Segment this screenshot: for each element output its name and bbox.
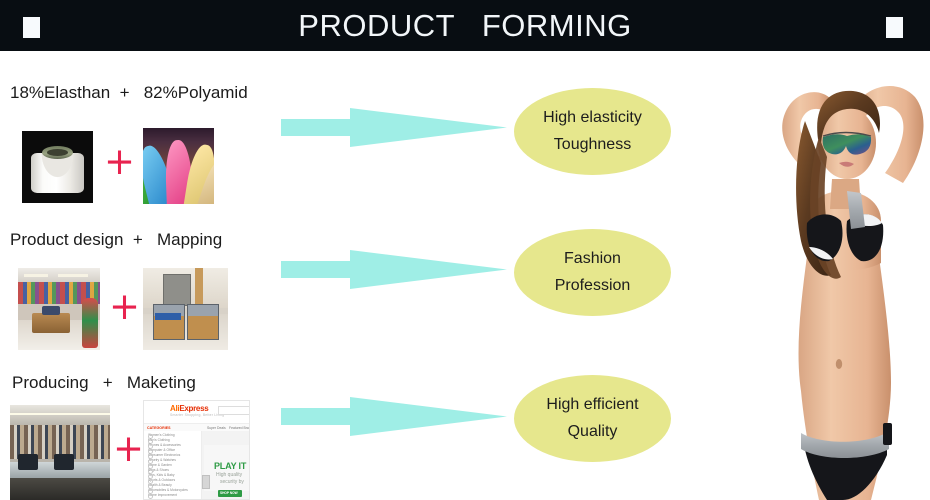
row-2-label: Product design + Mapping [10, 230, 222, 250]
row-1-plus-sign: + [104, 143, 135, 180]
aliexpress-hero-banner[interactable]: PLAY IT High quality security by SHOP NO… [204, 445, 249, 491]
factory-foreground-shadow [10, 478, 110, 500]
aliexpress-carousel-prev-arrow-icon[interactable] [202, 475, 210, 489]
row-3-arrow-icon [281, 395, 507, 439]
photo-knitting-workshop [143, 268, 228, 350]
aliexpress-logo: AliExpress [170, 404, 208, 413]
row-3-label: Producing + Maketing [12, 373, 196, 393]
workshop-machine-blue-panel [155, 313, 181, 320]
aliexpress-search-input[interactable] [218, 406, 250, 415]
photo-garment-showroom [18, 268, 100, 350]
aliexpress-main-content: PLAY IT High quality security by SHOP NO… [202, 431, 249, 499]
workshop-machine-1 [153, 304, 185, 340]
workshop-machine-2 [187, 304, 219, 340]
aliexpress-menu-item[interactable]: Home Improvement [148, 493, 198, 498]
aliexpress-logo-express: Express [179, 404, 208, 413]
showroom-folded-goods [42, 306, 60, 315]
model-navel [836, 359, 842, 369]
factory-sewing-machine-2 [54, 454, 74, 470]
aliexpress-banner-title: PLAY IT [214, 461, 246, 471]
aliexpress-categories-label[interactable]: CATEGORIES [147, 426, 171, 430]
photo-aliexpress-screenshot: AliExpress Smarter Shopping, Better Livi… [143, 400, 250, 500]
aliexpress-shop-now-button[interactable]: SHOP NOW [218, 490, 242, 497]
model-illustration [735, 51, 930, 500]
aliexpress-tab-featured[interactable]: Featured Bra [229, 426, 249, 430]
row-2-result-line-1: Fashion [564, 251, 621, 267]
aliexpress-tab-super-deals[interactable]: Super Deals [207, 426, 226, 430]
aliexpress-banner-line-2: security by [220, 479, 244, 485]
product-forming-infographic: PRODUCT FORMING 18%Elasthan + 82%Polyami… [0, 0, 930, 500]
aliexpress-shop-now-label: SHOP NOW [220, 491, 238, 495]
yarn-cone-shape [31, 153, 84, 193]
header-bar: PRODUCT FORMING [0, 0, 930, 51]
photo-colored-fabric-rolls [143, 128, 214, 204]
row-3-result-line-2: Quality [568, 424, 618, 440]
row-3-result-line-1: High efficient [546, 397, 638, 413]
decorative-square-right-icon [886, 17, 903, 38]
photo-sewing-factory [10, 405, 110, 500]
aliexpress-tagline: Smarter Shopping, Better Living [170, 413, 224, 417]
row-1-result-line-2: Toughness [554, 137, 631, 153]
model-bikini-side-tab [883, 423, 892, 445]
row-2-result-ellipse: Fashion Profession [514, 229, 671, 316]
row-3-result-ellipse: High efficient Quality [514, 375, 671, 462]
row-1-result-ellipse: High elasticity Toughness [514, 88, 671, 175]
factory-sewing-machine-1 [18, 454, 38, 470]
row-1-arrow-icon [281, 106, 507, 150]
model-photo [735, 51, 930, 500]
showroom-hanging-dress [82, 298, 98, 348]
photo-white-yarn-cone [22, 131, 93, 203]
row-2-plus-sign: + [109, 288, 140, 325]
row-1-label: 18%Elasthan + 82%Polyamid [10, 83, 248, 103]
row-2-arrow-icon [281, 248, 507, 292]
showroom-display-table [32, 313, 70, 333]
aliexpress-logo-ali: Ali [170, 404, 179, 413]
row-2-result-line-2: Profession [555, 278, 631, 294]
aliexpress-topbar: AliExpress Smarter Shopping, Better Livi… [144, 401, 249, 423]
aliexpress-banner-line-1: High quality [216, 472, 242, 478]
page-title: PRODUCT FORMING [0, 0, 930, 51]
workshop-door [163, 274, 191, 306]
row-1-result-line-1: High elasticity [543, 110, 642, 126]
aliexpress-category-sidebar: Women's Clothing Men's Clothing Phones &… [144, 431, 202, 499]
row-3-plus-sign: + [113, 430, 144, 467]
factory-roof [10, 405, 110, 427]
